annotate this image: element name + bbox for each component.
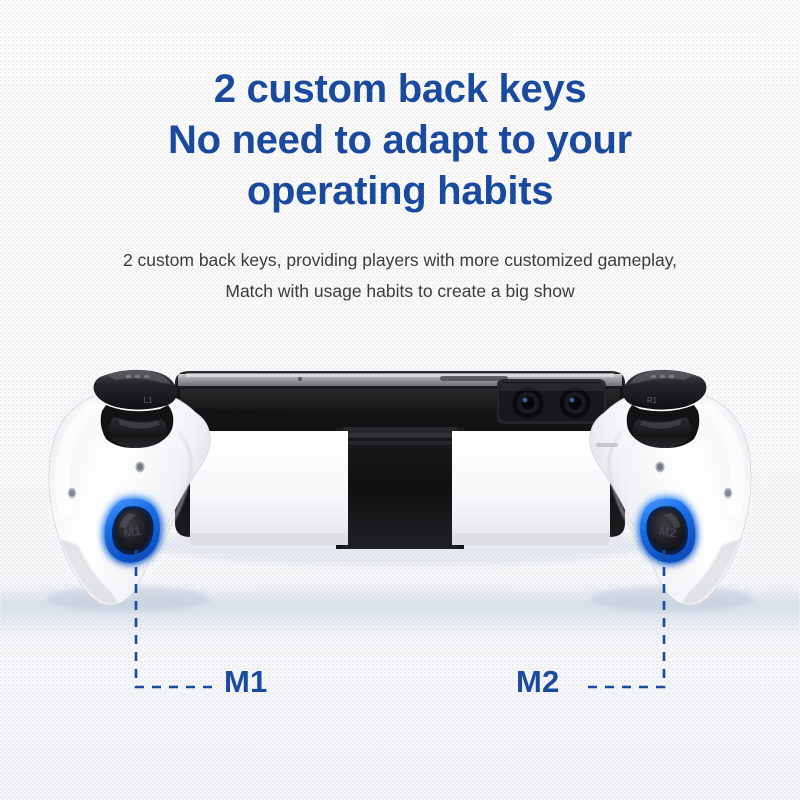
subtitle: 2 custom back keys, providing players wi… <box>0 245 800 307</box>
headline-line-3: operating habits <box>0 166 800 217</box>
svg-text:R1: R1 <box>647 396 658 405</box>
right-grip-port <box>596 443 618 447</box>
phone-camera-module <box>497 379 606 424</box>
m2-key-engraving: M2 <box>658 524 677 541</box>
left-shoulder-triggers[interactable]: L1 <box>94 370 177 448</box>
product-illustration: L1 <box>0 355 800 655</box>
callout-label-m1: M1 <box>224 666 267 697</box>
text-block: 2 custom back keys No need to adapt to y… <box>0 64 800 307</box>
page-title: 2 custom back keys No need to adapt to y… <box>0 64 800 217</box>
callout-label-m2: M2 <box>516 666 559 697</box>
headline-line-2: No need to adapt to your <box>0 115 800 166</box>
left-slider-arm <box>190 431 348 545</box>
subtitle-line-2: Match with usage habits to create a big … <box>0 276 800 307</box>
product-feature-poster: 2 custom back keys No need to adapt to y… <box>0 0 800 800</box>
subtitle-line-1: 2 custom back keys, providing players wi… <box>0 245 800 276</box>
phone-mic <box>298 377 302 381</box>
svg-text:L1: L1 <box>144 396 153 405</box>
right-shoulder-triggers[interactable]: R1 <box>623 370 706 448</box>
phone-speaker-slot <box>440 376 508 381</box>
right-slider-arm <box>452 431 610 545</box>
headline-line-1: 2 custom back keys <box>0 64 800 115</box>
center-bridge <box>336 427 464 549</box>
m1-key-engraving: M1 <box>123 524 142 541</box>
